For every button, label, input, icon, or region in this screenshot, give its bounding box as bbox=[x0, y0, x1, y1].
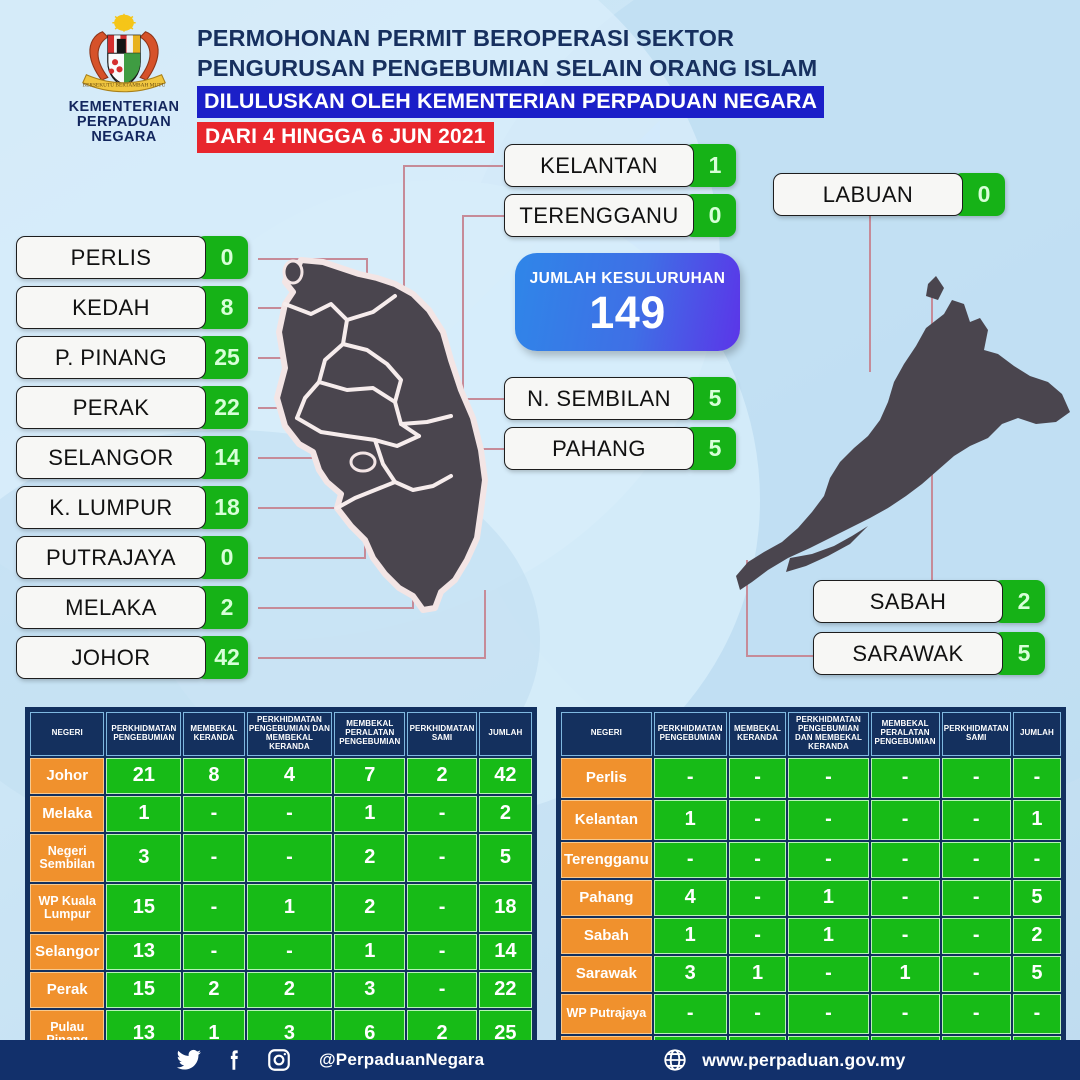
facebook-icon[interactable] bbox=[221, 1047, 247, 1073]
approved-banner: DILULUSKAN OLEH KEMENTERIAN PERPADUAN NE… bbox=[197, 86, 824, 118]
table-row: Perlis------ bbox=[561, 758, 1061, 798]
total-label: JUMLAH KESULURUHAN bbox=[530, 270, 726, 288]
table-cell: 2 bbox=[407, 758, 476, 794]
table-cell: 14 bbox=[479, 934, 532, 970]
row-state-name: Melaka bbox=[30, 796, 104, 832]
table-cell: - bbox=[407, 834, 476, 882]
label-kelantan[interactable]: KELANTAN 1 bbox=[504, 144, 736, 187]
table-cell: - bbox=[942, 880, 1011, 916]
table-cell: - bbox=[871, 800, 940, 840]
instagram-icon[interactable] bbox=[266, 1047, 292, 1073]
website-group: www.perpaduan.gov.my bbox=[662, 1047, 905, 1073]
state-name: LABUAN bbox=[773, 173, 963, 216]
table-cell: 18 bbox=[479, 884, 532, 932]
table-cell: 2 bbox=[479, 796, 532, 832]
ministry-line-2: PERPADUAN NEGARA bbox=[44, 115, 204, 145]
table-row: Kelantan1----1 bbox=[561, 800, 1061, 840]
row-state-name: Terengganu bbox=[561, 842, 652, 878]
website-url[interactable]: www.perpaduan.gov.my bbox=[702, 1050, 905, 1071]
table-cell: 1 bbox=[654, 800, 727, 840]
col-membekal-keranda: MEMBEKAL KERANDA bbox=[729, 712, 787, 756]
table-row: Terengganu------ bbox=[561, 842, 1061, 878]
table-cell: - bbox=[871, 842, 940, 878]
table-cell: - bbox=[788, 758, 868, 798]
table-cell: 5 bbox=[1013, 956, 1061, 992]
row-state-name: Selangor bbox=[30, 934, 104, 970]
row-state-name: Perlis bbox=[561, 758, 652, 798]
table-cell: - bbox=[1013, 758, 1061, 798]
label-perak[interactable]: PERAK 22 bbox=[16, 386, 248, 429]
label-p-pinang[interactable]: P. PINANG 25 bbox=[16, 336, 248, 379]
table-cell: 1 bbox=[654, 918, 727, 954]
table-right: NEGERI PERKHIDMATAN PENGEBUMIAN MEMBEKAL… bbox=[556, 707, 1066, 1080]
label-pahang[interactable]: PAHANG 5 bbox=[504, 427, 736, 470]
col-perkhidmatan-pengebumian: PERKHIDMATAN PENGEBUMIAN bbox=[106, 712, 181, 756]
date-banner: DARI 4 HINGGA 6 JUN 2021 bbox=[197, 122, 494, 153]
table-header-row: NEGERI PERKHIDMATAN PENGEBUMIAN MEMBEKAL… bbox=[30, 712, 532, 756]
table-row: Johor21847242 bbox=[30, 758, 532, 794]
table-cell: 42 bbox=[479, 758, 532, 794]
table-cell: 7 bbox=[334, 758, 405, 794]
table-cell: - bbox=[942, 994, 1011, 1034]
social-group: @PerpaduanNegara bbox=[176, 1047, 484, 1073]
state-name: KELANTAN bbox=[504, 144, 694, 187]
col-negeri: NEGERI bbox=[30, 712, 104, 756]
table-cell: - bbox=[729, 880, 787, 916]
col-membekal-peralatan: MEMBEKAL PERALATAN PENGEBUMIAN bbox=[871, 712, 940, 756]
row-state-name: Perak bbox=[30, 972, 104, 1008]
table-row: Sarawak31-1-5 bbox=[561, 956, 1061, 992]
table-cell: - bbox=[183, 834, 244, 882]
header: BERSEKUTU BERTAMBAH MUTU KEMENTERIAN PER… bbox=[0, 0, 1080, 146]
label-selangor[interactable]: SELANGOR 14 bbox=[16, 436, 248, 479]
table-row: Perak15223-22 bbox=[30, 972, 532, 1008]
row-state-name: Kelantan bbox=[561, 800, 652, 840]
table-cell: - bbox=[247, 934, 333, 970]
state-name: P. PINANG bbox=[16, 336, 206, 379]
table-cell: - bbox=[788, 842, 868, 878]
table-cell: 2 bbox=[183, 972, 244, 1008]
ministry-line-1: KEMENTERIAN bbox=[44, 100, 204, 115]
row-state-name: Negeri Sembilan bbox=[30, 834, 104, 882]
col-pengebumian-dan-keranda: PERKHIDMATAN PENGEBUMIAN DAN MEMBEKAL KE… bbox=[788, 712, 868, 756]
col-membekal-peralatan: MEMBEKAL PERALATAN PENGEBUMIAN bbox=[334, 712, 405, 756]
table-cell: - bbox=[183, 796, 244, 832]
table-cell: - bbox=[788, 800, 868, 840]
table-cell: - bbox=[407, 884, 476, 932]
table-cell: 4 bbox=[654, 880, 727, 916]
title-line-2: PENGURUSAN PENGEBUMIAN SELAIN ORANG ISLA… bbox=[197, 54, 824, 84]
table-cell: 15 bbox=[106, 884, 181, 932]
table-left: NEGERI PERKHIDMATAN PENGEBUMIAN MEMBEKAL… bbox=[25, 707, 537, 1080]
table-cell: 13 bbox=[106, 934, 181, 970]
table-cell: 22 bbox=[479, 972, 532, 1008]
col-jumlah: JUMLAH bbox=[1013, 712, 1061, 756]
svg-text:BERSEKUTU BERTAMBAH MUTU: BERSEKUTU BERTAMBAH MUTU bbox=[83, 82, 166, 88]
table-cell: - bbox=[942, 918, 1011, 954]
table-cell: 1 bbox=[871, 956, 940, 992]
table-cell: 1 bbox=[729, 956, 787, 992]
table-cell: - bbox=[942, 800, 1011, 840]
row-state-name: Sabah bbox=[561, 918, 652, 954]
col-pengebumian-dan-keranda: PERKHIDMATAN PENGEBUMIAN DAN MEMBEKAL KE… bbox=[247, 712, 333, 756]
infographic-canvas: BERSEKUTU BERTAMBAH MUTU KEMENTERIAN PER… bbox=[0, 0, 1080, 1080]
row-state-name: Pahang bbox=[561, 880, 652, 916]
table-cell: - bbox=[183, 934, 244, 970]
table-cell: 8 bbox=[183, 758, 244, 794]
label-johor[interactable]: JOHOR 42 bbox=[16, 636, 248, 679]
table-cell: 2 bbox=[247, 972, 333, 1008]
table-row: Sabah1-1--2 bbox=[561, 918, 1061, 954]
label-n-sembilan[interactable]: N. SEMBILAN 5 bbox=[504, 377, 736, 420]
label-perlis[interactable]: PERLIS 0 bbox=[16, 236, 248, 279]
table-row: Negeri Sembilan3--2-5 bbox=[30, 834, 532, 882]
table-cell: - bbox=[788, 994, 868, 1034]
globe-icon bbox=[662, 1047, 688, 1073]
row-state-name: WP Kuala Lumpur bbox=[30, 884, 104, 932]
col-negeri: NEGERI bbox=[561, 712, 652, 756]
state-name: PAHANG bbox=[504, 427, 694, 470]
table-header-row: NEGERI PERKHIDMATAN PENGEBUMIAN MEMBEKAL… bbox=[561, 712, 1061, 756]
label-melaka[interactable]: MELAKA 2 bbox=[16, 586, 248, 629]
state-name: MELAKA bbox=[16, 586, 206, 629]
table-row: Melaka1--1-2 bbox=[30, 796, 532, 832]
table-cell: - bbox=[871, 918, 940, 954]
col-perkhidmatan-sami: PERKHIDMATAN SAMI bbox=[407, 712, 476, 756]
table-cell: - bbox=[407, 934, 476, 970]
state-name: N. SEMBILAN bbox=[504, 377, 694, 420]
table-cell: - bbox=[729, 842, 787, 878]
row-state-name: WP Putrajaya bbox=[561, 994, 652, 1034]
table-cell: - bbox=[654, 842, 727, 878]
col-jumlah: JUMLAH bbox=[479, 712, 532, 756]
malaysia-coat-of-arms-icon: BERSEKUTU BERTAMBAH MUTU bbox=[70, 12, 178, 98]
table-cell: 1 bbox=[334, 934, 405, 970]
label-labuan[interactable]: LABUAN 0 bbox=[773, 173, 1005, 216]
state-name: K. LUMPUR bbox=[16, 486, 206, 529]
table-cell: - bbox=[247, 796, 333, 832]
row-state-name: Johor bbox=[30, 758, 104, 794]
label-terengganu[interactable]: TERENGGANU 0 bbox=[504, 194, 736, 237]
table-cell: 1 bbox=[1013, 800, 1061, 840]
table-cell: 1 bbox=[788, 918, 868, 954]
state-name: SELANGOR bbox=[16, 436, 206, 479]
table-cell: - bbox=[407, 972, 476, 1008]
table-cell: - bbox=[942, 842, 1011, 878]
table-cell: - bbox=[407, 796, 476, 832]
table-cell: 3 bbox=[106, 834, 181, 882]
connector-johor bbox=[258, 657, 486, 659]
table-cell: 3 bbox=[654, 956, 727, 992]
table-row: WP Kuala Lumpur15-12-18 bbox=[30, 884, 532, 932]
col-perkhidmatan-pengebumian: PERKHIDMATAN PENGEBUMIAN bbox=[654, 712, 727, 756]
ministry-logo: BERSEKUTU BERTAMBAH MUTU KEMENTERIAN PER… bbox=[44, 12, 204, 140]
table-cell: 15 bbox=[106, 972, 181, 1008]
state-name: KEDAH bbox=[16, 286, 206, 329]
connector-kelantan bbox=[403, 165, 503, 167]
twitter-icon[interactable] bbox=[176, 1047, 202, 1073]
table-cell: - bbox=[871, 758, 940, 798]
table-cell: 5 bbox=[479, 834, 532, 882]
table-cell: - bbox=[729, 994, 787, 1034]
table-cell: 1 bbox=[334, 796, 405, 832]
table-cell: - bbox=[788, 956, 868, 992]
state-name: TERENGGANU bbox=[504, 194, 694, 237]
label-putrajaya[interactable]: PUTRAJAYA 0 bbox=[16, 536, 248, 579]
table-cell: - bbox=[654, 758, 727, 798]
table-cell: - bbox=[183, 884, 244, 932]
table-cell: 3 bbox=[334, 972, 405, 1008]
table-cell: 5 bbox=[1013, 880, 1061, 916]
footer: @PerpaduanNegara www.perpaduan.gov.my bbox=[0, 1040, 1080, 1080]
table-cell: - bbox=[729, 918, 787, 954]
state-name: SABAH bbox=[813, 580, 1003, 623]
col-membekal-keranda: MEMBEKAL KERANDA bbox=[183, 712, 244, 756]
title-line-1: PERMOHONAN PERMIT BEROPERASI SEKTOR bbox=[197, 24, 824, 54]
table-cell: - bbox=[871, 880, 940, 916]
social-handle[interactable]: @PerpaduanNegara bbox=[319, 1050, 484, 1070]
table-cell: 1 bbox=[247, 884, 333, 932]
col-perkhidmatan-sami: PERKHIDMATAN SAMI bbox=[942, 712, 1011, 756]
table-cell: - bbox=[1013, 842, 1061, 878]
table-cell: - bbox=[729, 800, 787, 840]
state-name: SARAWAK bbox=[813, 632, 1003, 675]
table-cell: 2 bbox=[334, 884, 405, 932]
ministry-name: KEMENTERIAN PERPADUAN NEGARA bbox=[44, 100, 204, 146]
table-cell: 21 bbox=[106, 758, 181, 794]
title-block: PERMOHONAN PERMIT BEROPERASI SEKTOR PENG… bbox=[197, 24, 824, 153]
connector-terengganu bbox=[462, 215, 504, 217]
table-row: Selangor13--1-14 bbox=[30, 934, 532, 970]
label-sabah[interactable]: SABAH 2 bbox=[813, 580, 1045, 623]
table-cell: - bbox=[654, 994, 727, 1034]
row-state-name: Sarawak bbox=[561, 956, 652, 992]
table-cell: 4 bbox=[247, 758, 333, 794]
table-cell: - bbox=[1013, 994, 1061, 1034]
label-sarawak[interactable]: SARAWAK 5 bbox=[813, 632, 1045, 675]
table-cell: 2 bbox=[1013, 918, 1061, 954]
label-k-lumpur[interactable]: K. LUMPUR 18 bbox=[16, 486, 248, 529]
state-name: PUTRAJAYA bbox=[16, 536, 206, 579]
table-cell: - bbox=[942, 758, 1011, 798]
table-row: Pahang4-1--5 bbox=[561, 880, 1061, 916]
label-kedah[interactable]: KEDAH 8 bbox=[16, 286, 248, 329]
state-name: PERLIS bbox=[16, 236, 206, 279]
state-name: PERAK bbox=[16, 386, 206, 429]
table-cell: - bbox=[871, 994, 940, 1034]
table-cell: 1 bbox=[788, 880, 868, 916]
table-cell: - bbox=[729, 758, 787, 798]
table-cell: - bbox=[942, 956, 1011, 992]
table-row: WP Putrajaya------ bbox=[561, 994, 1061, 1034]
table-cell: 2 bbox=[334, 834, 405, 882]
table-cell: - bbox=[247, 834, 333, 882]
state-name: JOHOR bbox=[16, 636, 206, 679]
table-cell: 1 bbox=[106, 796, 181, 832]
total-badge: JUMLAH KESULURUHAN 149 bbox=[515, 253, 740, 351]
total-value: 149 bbox=[589, 290, 666, 335]
